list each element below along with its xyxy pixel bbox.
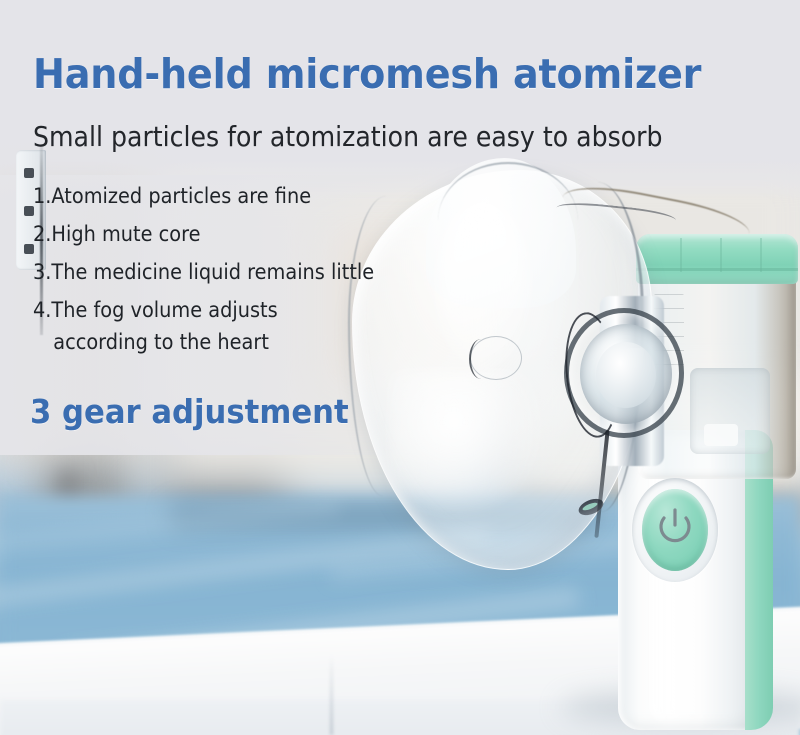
product-banner: Hand-held micromesh atomizer Small parti…: [0, 0, 800, 735]
list-item: 2.High mute core: [33, 224, 419, 245]
list-item: 1.Atomized particles are fine: [33, 186, 419, 207]
list-item-continuation: according to the heart: [33, 332, 419, 353]
list-item: 4.The fog volume adjusts: [33, 300, 419, 321]
callout-text: 3 gear adjustment: [30, 392, 349, 431]
mask-vent-hole: [470, 336, 522, 380]
cap-ridge: [760, 238, 762, 272]
mask-rim: [438, 162, 578, 232]
list-item: 3.The medicine liquid remains little: [33, 262, 419, 283]
page-subtitle: Small particles for atomization are easy…: [33, 120, 699, 153]
reservoir-mesh-seat: [704, 424, 738, 446]
feature-list: 1.Atomized particles are fine 2.High mut…: [33, 186, 453, 370]
page-title: Hand-held micromesh atomizer: [33, 50, 721, 98]
strap-notch: [24, 168, 34, 178]
